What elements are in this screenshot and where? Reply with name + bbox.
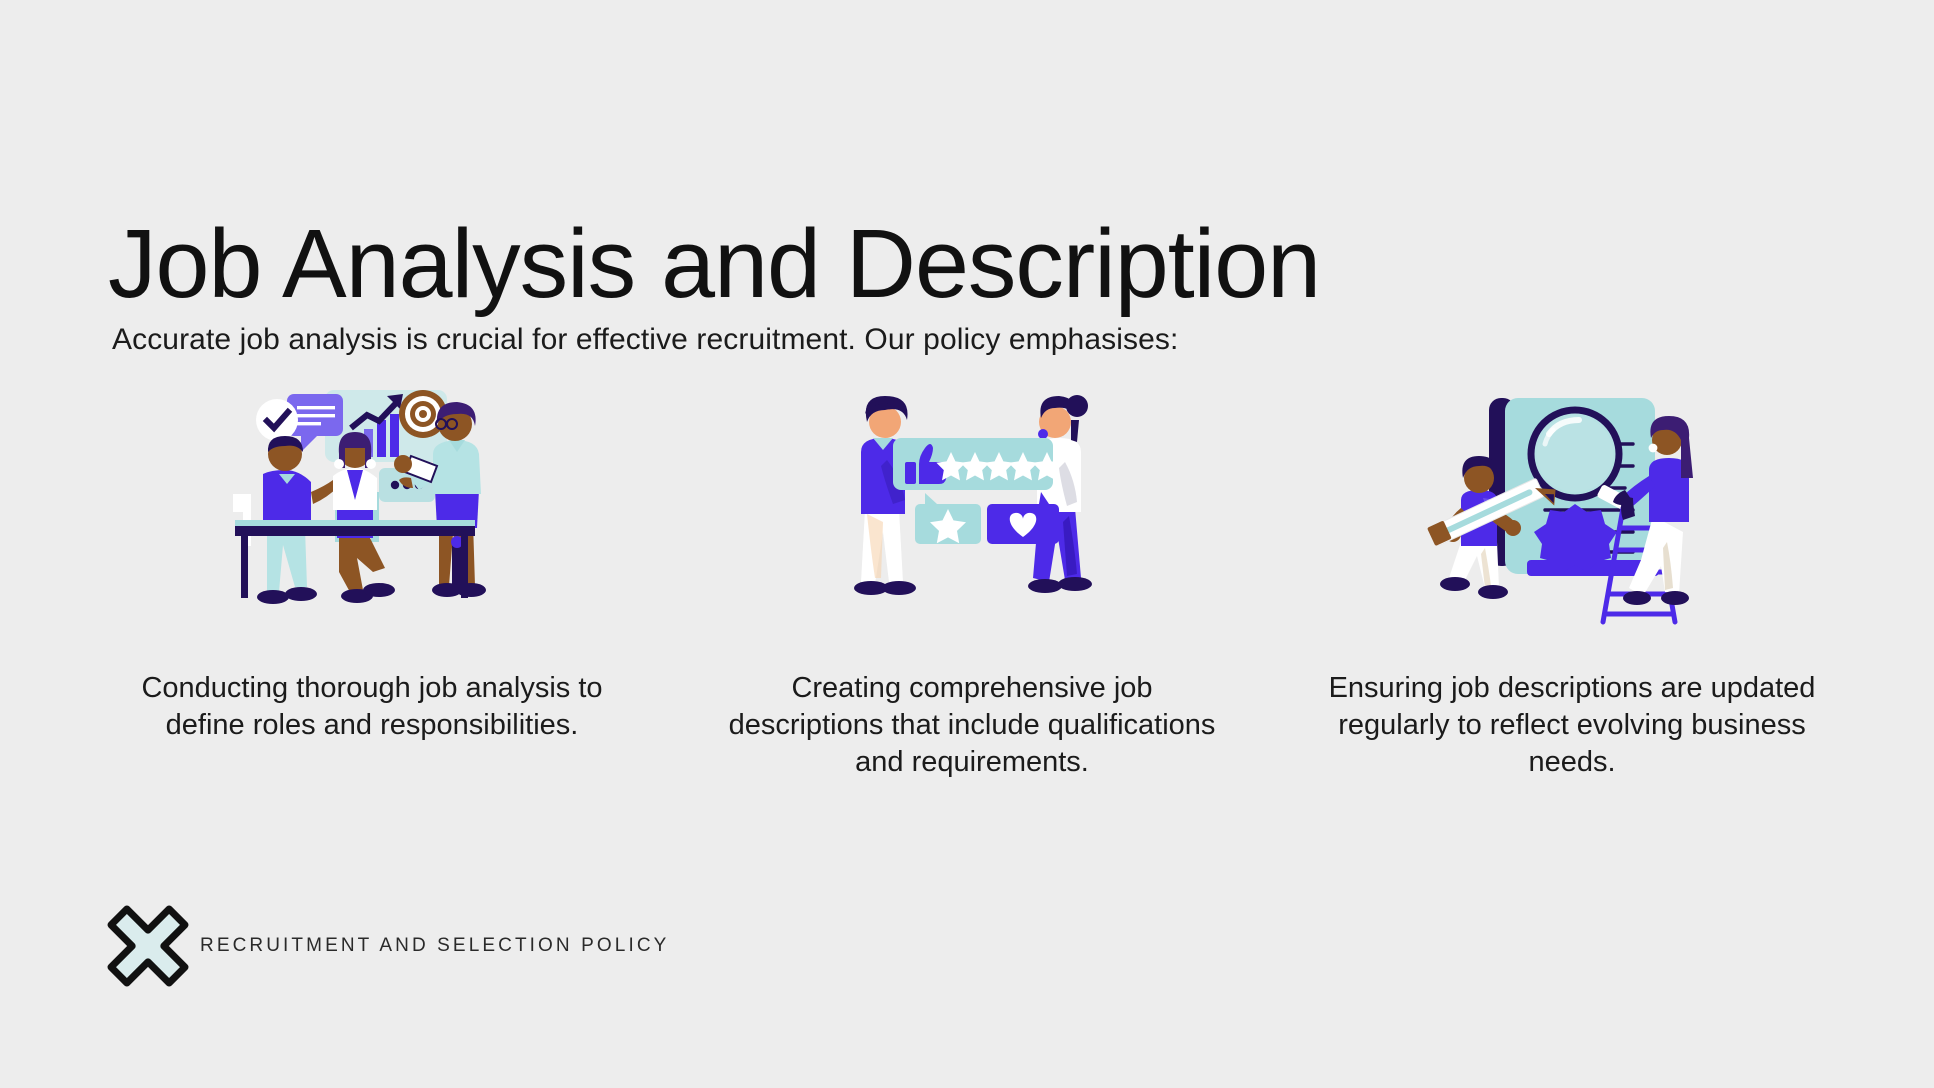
footer-label: RECRUITMENT AND SELECTION POLICY [200,935,669,957]
slide-root: Job Analysis and Description Accurate jo… [0,0,1934,1088]
card-3-caption: Ensuring job descriptions are updated re… [1312,670,1832,781]
star-bubble-icon [915,493,981,544]
ratings-panel [893,438,1062,490]
card-1-caption: Conducting thorough job analysis to defi… [112,670,632,744]
check-circle-icon [256,399,298,441]
card-2: Creating comprehensive job descriptions … [692,372,1252,781]
person-left-holding-panel [854,396,944,595]
document-review-illustration [1422,372,1722,632]
card-2-caption: Creating comprehensive job descriptions … [712,670,1232,781]
footer: RECRUITMENT AND SELECTION POLICY [104,902,669,990]
document-review-svg [1427,382,1717,632]
card-1: Conducting thorough job analysis to defi… [92,372,652,744]
x-mark-logo [104,902,192,990]
ratings-review-svg [827,382,1117,632]
person-right-holding-panel [998,395,1092,593]
team-meeting-illustration [222,372,522,632]
page-title: Job Analysis and Description [108,213,1320,315]
page-subtitle: Accurate job analysis is crucial for eff… [112,323,1178,357]
ratings-review-illustration [822,372,1122,632]
team-meeting-svg [227,382,517,632]
cards-row: Conducting thorough job analysis to defi… [92,372,1852,781]
card-3: Ensuring job descriptions are updated re… [1292,372,1852,781]
